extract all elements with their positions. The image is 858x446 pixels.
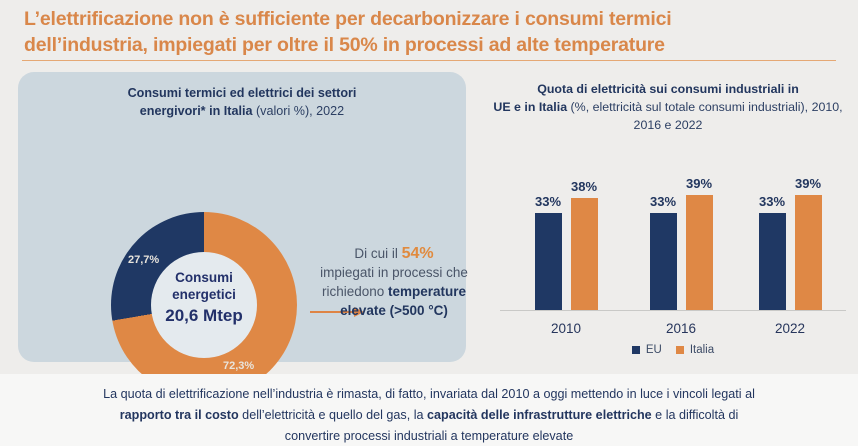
right-panel-title: Quota di elettricità sui consumi industr… bbox=[486, 80, 850, 134]
bar-fill-eu-2010 bbox=[535, 213, 562, 310]
donut-slice-label-elettrici: 27,7% bbox=[128, 254, 159, 266]
bar-group-2022: 33% 39% 2022 bbox=[736, 160, 844, 310]
bar-group-2016: 33% 39% 2016 bbox=[627, 160, 735, 310]
bar-category-2016: 2016 bbox=[627, 321, 735, 336]
left-title-bold-2: energivori* in Italia bbox=[140, 104, 253, 118]
donut-center-label: Consumi energetici 20,6 Mtep Consumi ene… bbox=[147, 269, 261, 326]
legend-label-italia: Italia bbox=[690, 344, 714, 356]
legend-swatch-italia-icon bbox=[676, 346, 684, 354]
bar-italia-2022[interactable]: 39% bbox=[795, 195, 822, 310]
right-title-normal: (%, elettricità sul totale consumi indus… bbox=[571, 100, 843, 132]
right-title-bold-2: UE e in Italia bbox=[493, 100, 567, 114]
slide-header: L’elettrificazione non è sufficiente per… bbox=[0, 0, 858, 60]
donut-chart: Consumi energetici 20,6 Mtep Consumi ene… bbox=[111, 212, 297, 398]
footer-line-2: rapporto tra il costo dell’elettricità e… bbox=[28, 405, 830, 426]
bar-fill-eu-2022 bbox=[759, 213, 786, 310]
left-panel-title: Consumi termici ed elettrici dei settori… bbox=[34, 84, 450, 120]
bar-value-italia-2022: 39% bbox=[795, 176, 821, 191]
legend-label-eu: EU bbox=[646, 344, 662, 356]
left-chart-panel: Consumi termici ed elettrici dei settori… bbox=[18, 72, 466, 362]
bar-fill-eu-2016 bbox=[650, 213, 677, 310]
donut-slice-label-termici: 72,3% bbox=[223, 360, 254, 372]
bar-category-2022: 2022 bbox=[736, 321, 844, 336]
header-title-line-1: L’elettrificazione non è sufficiente per… bbox=[24, 6, 836, 32]
bar-chart: 33% 38% 2010 33% 39% bbox=[496, 160, 850, 340]
donut-center-text-1: Consumi bbox=[147, 269, 261, 286]
right-title-bold-1: Quota di elettricità sui consumi industr… bbox=[537, 82, 799, 96]
bar-italia-2016[interactable]: 39% bbox=[686, 195, 713, 310]
legend-item-italia[interactable]: Italia bbox=[676, 344, 714, 356]
bar-value-italia-2016: 39% bbox=[686, 176, 712, 191]
bar-value-italia-2010: 38% bbox=[571, 179, 597, 194]
callout-highlight: 54% bbox=[402, 245, 434, 262]
callout-text: Di cui il 54% impiegati in processi che … bbox=[318, 244, 470, 320]
legend-swatch-eu-icon bbox=[632, 346, 640, 354]
bar-fill-italia-2022 bbox=[795, 195, 822, 310]
header-divider bbox=[22, 60, 836, 61]
bar-eu-2010[interactable]: 33% bbox=[535, 213, 562, 310]
donut-center-text-2: energetici bbox=[147, 286, 261, 303]
bar-eu-2022[interactable]: 33% bbox=[759, 213, 786, 310]
footer-text-3: e la difficoltà di bbox=[652, 408, 739, 422]
slide-root: L’elettrificazione non è sufficiente per… bbox=[0, 0, 858, 446]
footer-text-2: dell’elettricità e quello del gas, la bbox=[239, 408, 427, 422]
bar-fill-italia-2010 bbox=[571, 198, 598, 310]
left-title-bold-1: Consumi termici ed elettrici dei settori bbox=[128, 86, 357, 100]
bar-eu-2016[interactable]: 33% bbox=[650, 213, 677, 310]
header-title-line-2: dell’industria, impiegati per oltre il 5… bbox=[24, 32, 836, 58]
footer-line-1: La quota di elettrificazione nell’indust… bbox=[28, 384, 830, 405]
footer-bold-2: capacità delle infrastrutture elettriche bbox=[427, 408, 652, 422]
donut-center-value: 20,6 Mtep bbox=[147, 305, 261, 326]
legend-item-eu[interactable]: EU bbox=[632, 344, 662, 356]
bar-value-eu-2010: 33% bbox=[535, 194, 561, 209]
bar-fill-italia-2016 bbox=[686, 195, 713, 310]
bar-chart-baseline bbox=[500, 310, 846, 311]
bar-value-eu-2016: 33% bbox=[650, 194, 676, 209]
bar-category-2010: 2010 bbox=[512, 321, 620, 336]
bar-italia-2010[interactable]: 38% bbox=[571, 198, 598, 310]
slide-footer: La quota di elettrificazione nell’indust… bbox=[0, 374, 858, 446]
footer-bold-1: rapporto tra il costo bbox=[120, 408, 239, 422]
left-title-normal: (valori %), 2022 bbox=[256, 104, 344, 118]
callout-pre: Di cui il bbox=[354, 246, 401, 261]
bar-group-2010: 33% 38% 2010 bbox=[512, 160, 620, 310]
bar-chart-legend: EU Italia bbox=[496, 344, 850, 356]
bar-value-eu-2022: 33% bbox=[759, 194, 785, 209]
footer-line-3: convertire processi industriali a temper… bbox=[28, 426, 830, 446]
